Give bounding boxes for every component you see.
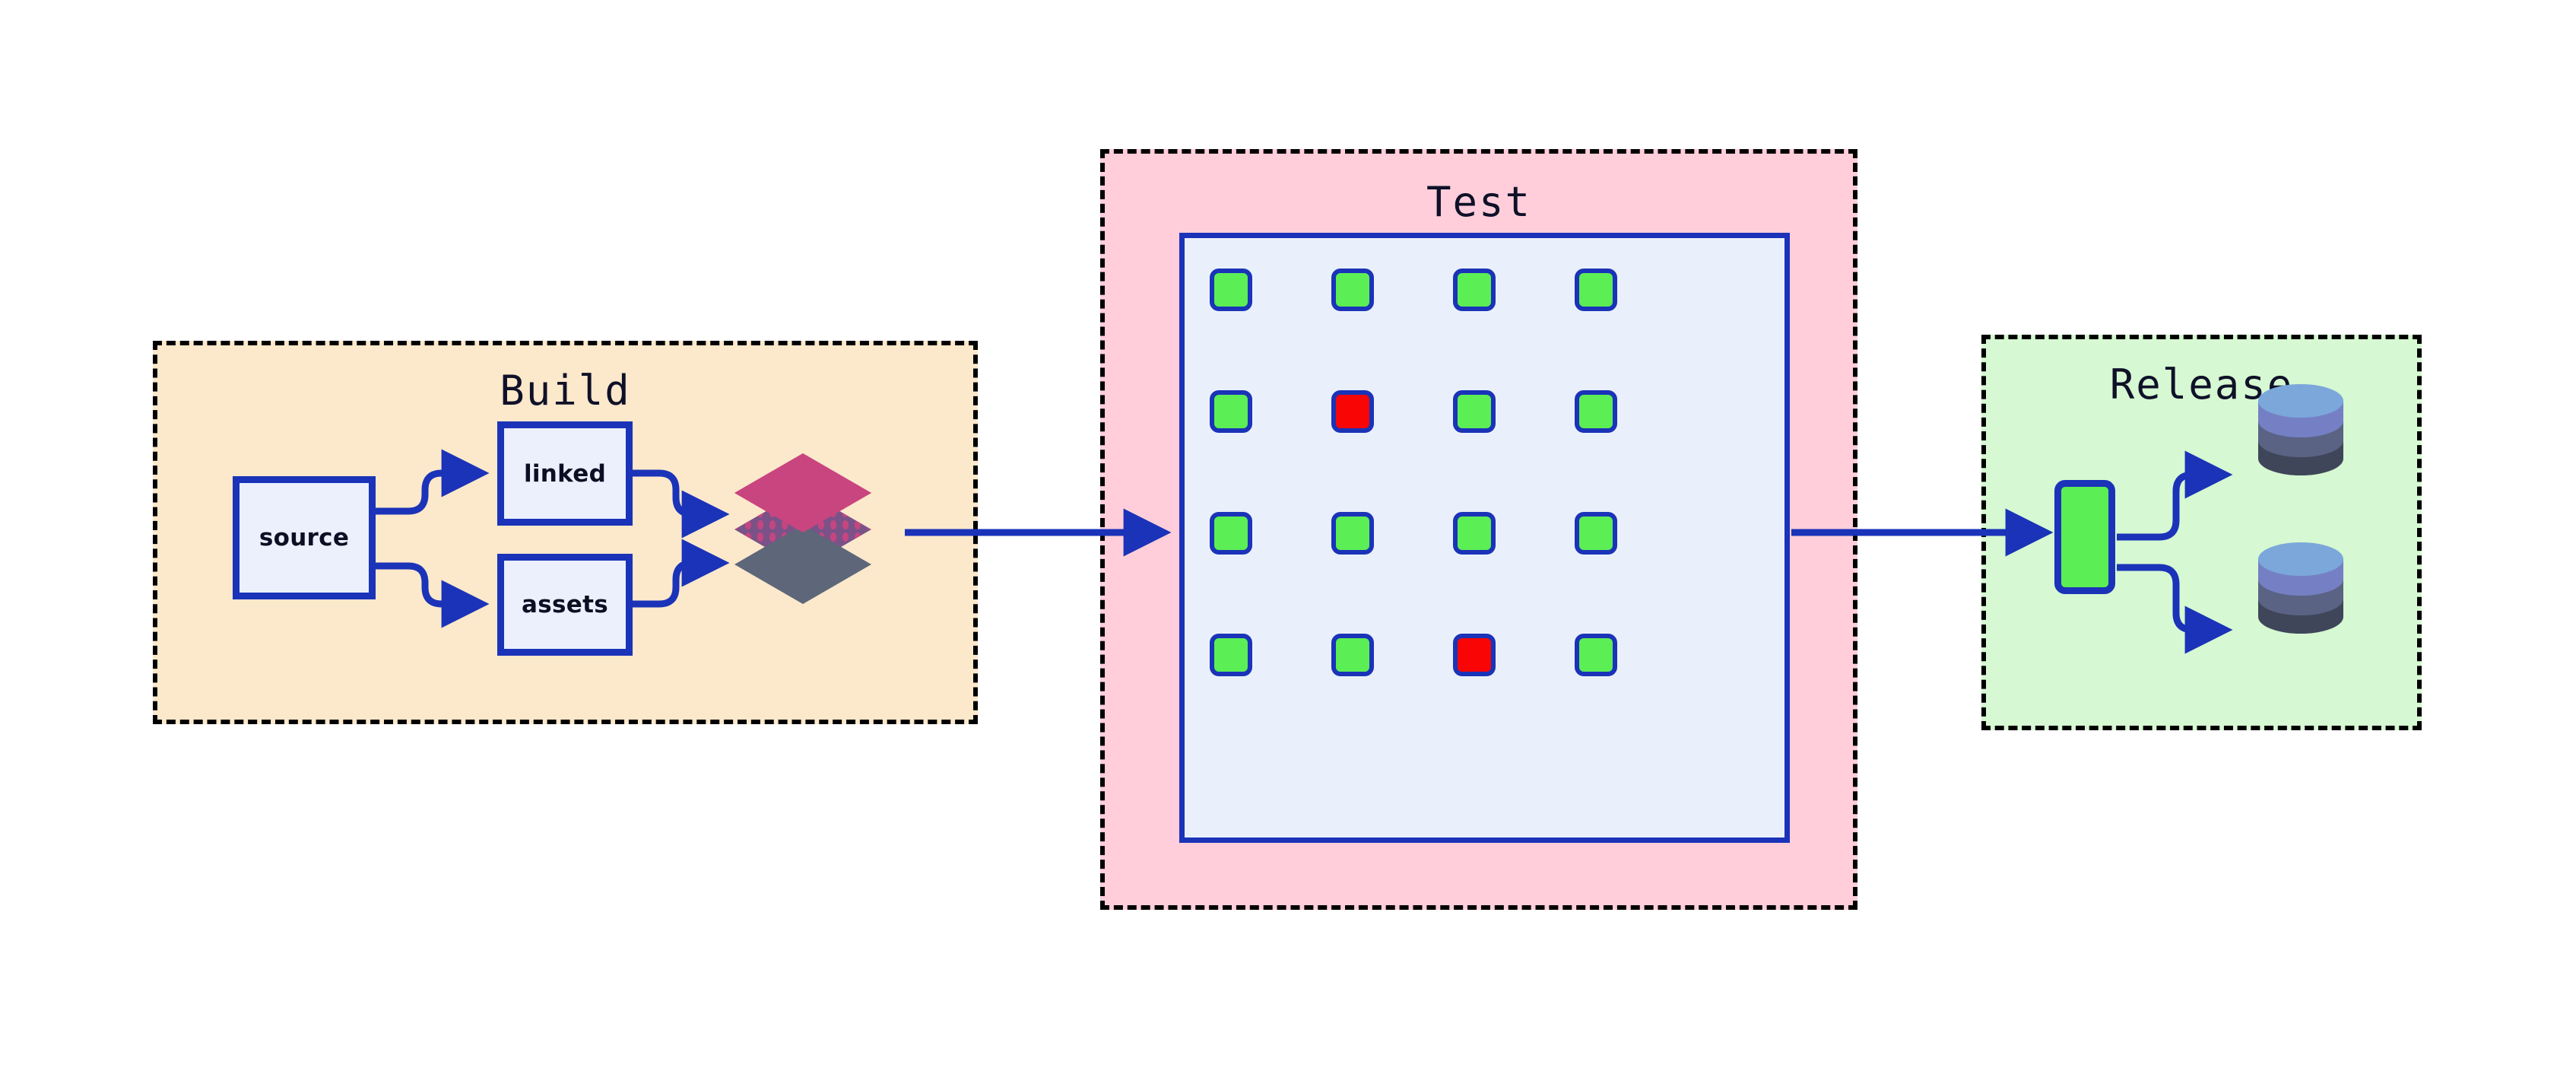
stage-flow-connectors [0, 0, 2576, 1068]
pipeline-diagram: Build source linked assets [0, 0, 2576, 1068]
